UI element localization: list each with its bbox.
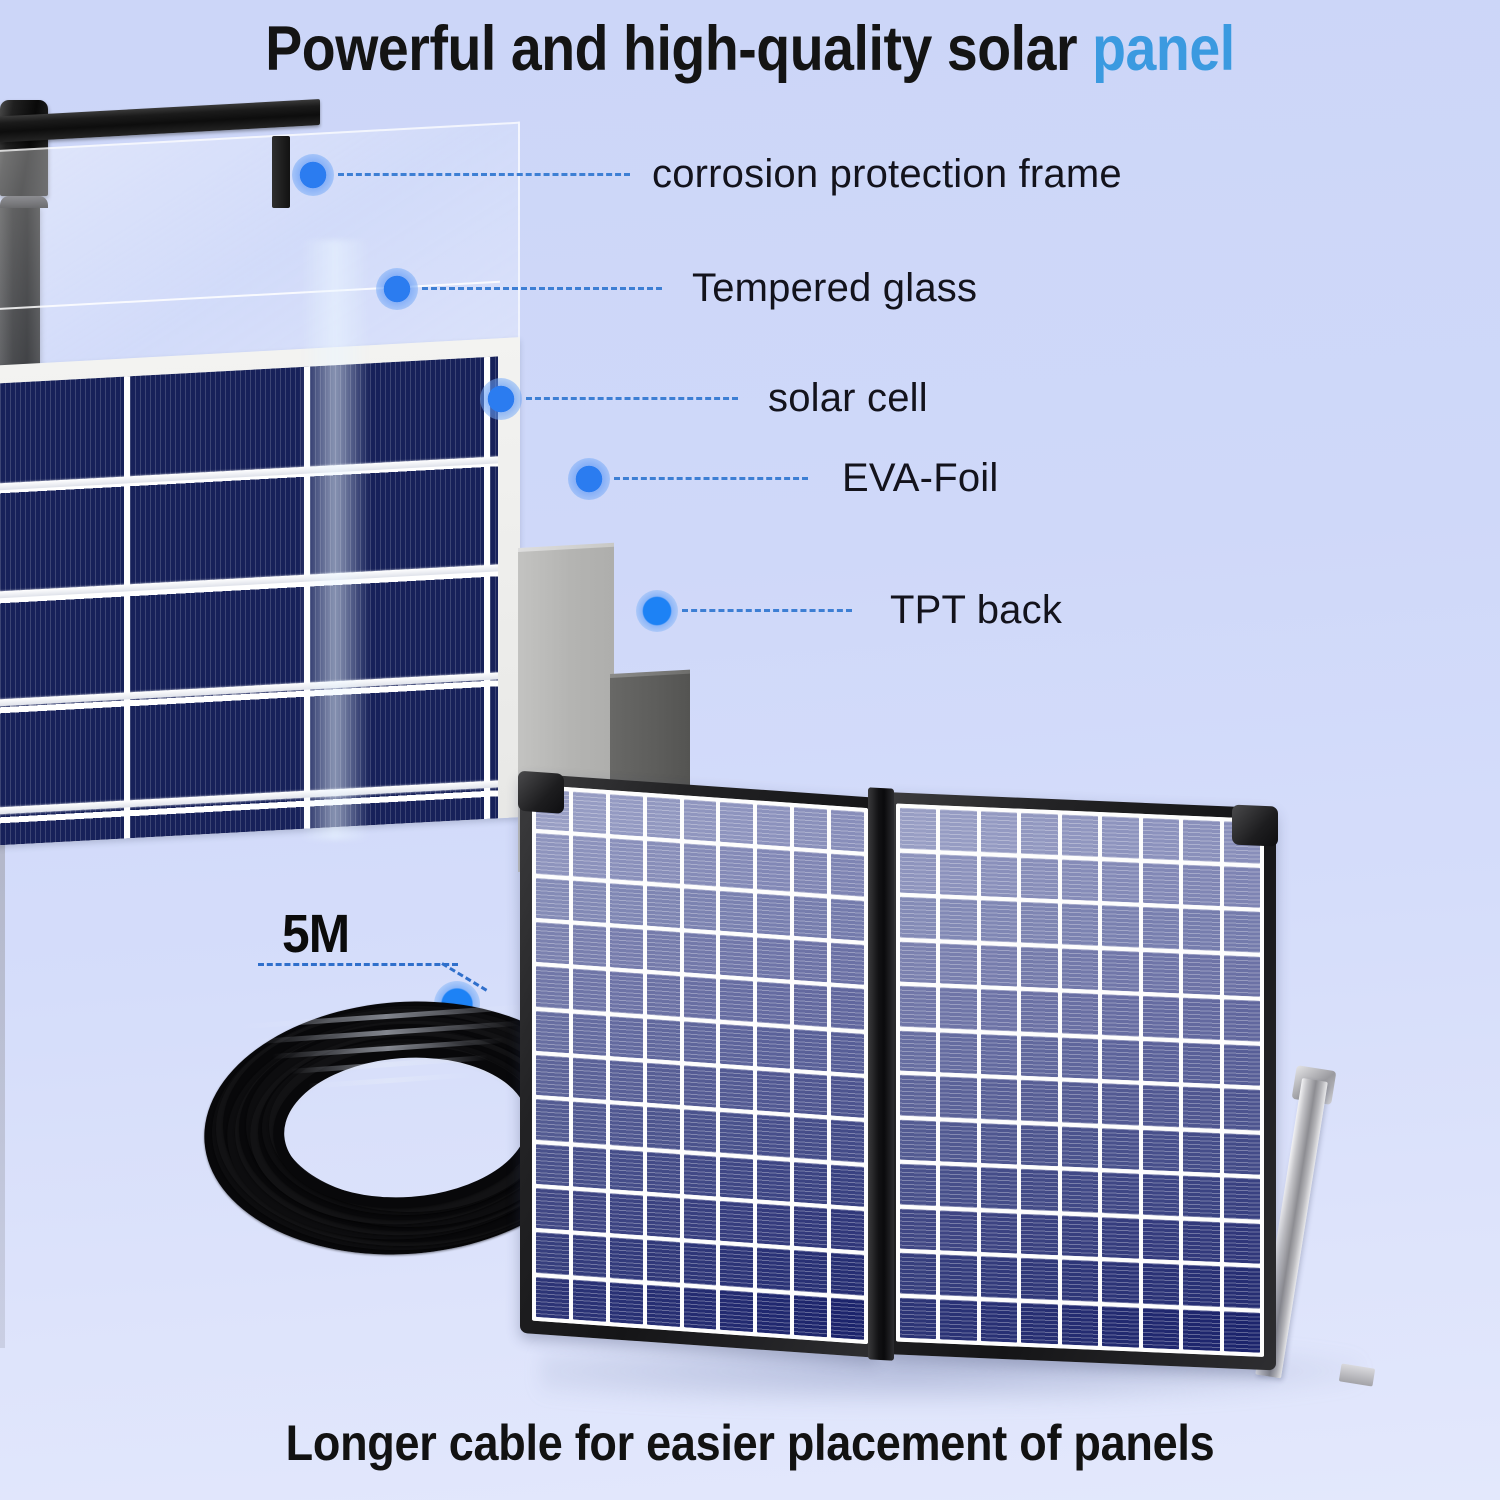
solar-cell <box>1102 816 1138 858</box>
callout-dot-icon <box>292 154 334 196</box>
solar-cell <box>900 1164 936 1206</box>
solar-cell <box>684 932 717 975</box>
solar-cell <box>1224 1311 1260 1353</box>
solar-cell <box>1102 1172 1138 1214</box>
solar-cell <box>900 1075 936 1117</box>
solar-cell <box>940 1032 976 1074</box>
solar-cell <box>940 1254 976 1296</box>
solar-cell <box>757 937 790 980</box>
solar-cell <box>1224 1177 1260 1219</box>
solar-cell <box>573 1058 606 1101</box>
solar-cell <box>757 1115 790 1158</box>
solar-cell <box>981 900 1017 942</box>
solar-cell <box>610 794 643 837</box>
solar-cell <box>757 1070 790 1113</box>
solar-cell <box>1183 998 1219 1040</box>
solar-cell <box>573 1235 606 1278</box>
solar-cell <box>647 1151 680 1194</box>
solar-cell <box>981 1301 1017 1343</box>
solar-cell <box>647 1240 680 1283</box>
solar-cell <box>1102 994 1138 1036</box>
solar-cell <box>831 1076 864 1119</box>
solar-cell <box>1224 955 1260 997</box>
solar-cell <box>940 809 976 851</box>
solar-cell <box>940 943 976 985</box>
solar-cell <box>757 1159 790 1202</box>
solar-cell <box>536 1232 569 1275</box>
solar-cell <box>940 1210 976 1252</box>
solar-cell <box>940 898 976 940</box>
solar-cell <box>757 982 790 1025</box>
solar-cell <box>684 799 717 842</box>
solar-cell <box>794 1029 827 1072</box>
solar-cell <box>684 1021 717 1064</box>
solar-cell <box>831 1031 864 1074</box>
solar-cell <box>1143 951 1179 993</box>
solar-cell <box>900 808 936 850</box>
cable-length-label: 5M <box>282 903 349 965</box>
callout-label: TPT back <box>890 588 1062 633</box>
solar-cell <box>573 1146 606 1189</box>
solar-cell <box>1143 1218 1179 1260</box>
callout-dot-icon <box>636 590 678 632</box>
solar-cell <box>1102 1128 1138 1170</box>
solar-cell <box>794 940 827 983</box>
callout-label: EVA-Foil <box>842 456 998 501</box>
solar-cell <box>757 893 790 936</box>
solar-cell <box>900 897 936 939</box>
solar-cell <box>610 1282 643 1325</box>
solar-cell <box>794 807 827 850</box>
callout-tpt-back: TPT back <box>636 588 1062 633</box>
solar-cell <box>831 1253 864 1296</box>
solar-cell <box>536 1055 569 1098</box>
solar-cell <box>794 1073 827 1116</box>
solar-cell <box>1143 1307 1179 1349</box>
glass-reflection-highlight <box>300 240 370 840</box>
solar-cell <box>981 1212 1017 1254</box>
solar-cell <box>1224 910 1260 952</box>
solar-cell <box>1021 1080 1057 1122</box>
solar-cell <box>573 1102 606 1145</box>
solar-cell <box>900 1119 936 1161</box>
solar-cell <box>610 883 643 926</box>
solar-cell <box>647 1196 680 1239</box>
frame-corner-cap <box>1232 805 1278 847</box>
solar-cell <box>610 971 643 1014</box>
solar-cell <box>647 1063 680 1106</box>
solar-cell <box>794 1295 827 1338</box>
frame-corner-cap <box>518 771 564 814</box>
solar-cell <box>1183 909 1219 951</box>
solar-cell <box>573 969 606 1012</box>
solar-cell <box>1183 1309 1219 1351</box>
solar-cell <box>1102 1083 1138 1125</box>
solar-cell <box>831 898 864 941</box>
solar-cell <box>1102 905 1138 947</box>
solar-cell <box>720 1112 753 1155</box>
solar-cell <box>1021 857 1057 899</box>
solar-cell <box>1021 946 1057 988</box>
solar-cell <box>794 984 827 1027</box>
solar-cell <box>940 854 976 896</box>
page-title-accent: panel <box>1092 14 1235 84</box>
solar-cell <box>1183 1176 1219 1218</box>
solar-cell <box>610 1016 643 1059</box>
solar-cell <box>981 989 1017 1031</box>
page-title: Powerful and high-quality solar panel <box>90 6 1410 92</box>
solar-cell <box>1102 1261 1138 1303</box>
callout-leader-line <box>682 609 852 612</box>
solar-cell <box>831 1297 864 1340</box>
solar-cell <box>981 945 1017 987</box>
solar-cell <box>981 1256 1017 1298</box>
solar-cell <box>647 974 680 1017</box>
solar-cell <box>1062 1170 1098 1212</box>
solar-cell <box>1183 1042 1219 1084</box>
solar-cell <box>536 833 569 876</box>
solar-cell <box>940 987 976 1029</box>
solar-cell <box>647 1284 680 1327</box>
solar-cell <box>1062 1215 1098 1257</box>
solar-cell <box>1021 813 1057 855</box>
solar-cell <box>536 1099 569 1142</box>
solar-cell <box>684 1287 717 1330</box>
solar-cell <box>610 1104 643 1147</box>
solar-cell <box>1102 1217 1138 1259</box>
solar-cell <box>610 838 643 881</box>
callout-leader-line <box>338 173 630 176</box>
solar-cell <box>573 1013 606 1056</box>
solar-cell <box>684 1154 717 1197</box>
solar-cell <box>536 878 569 921</box>
solar-cell <box>1224 1133 1260 1175</box>
callout-corrosion-protection-frame: corrosion protection frame <box>292 152 1122 197</box>
solar-cell <box>610 1149 643 1192</box>
solar-cell <box>831 810 864 853</box>
solar-cell <box>1183 953 1219 995</box>
solar-cell <box>573 880 606 923</box>
solar-cell <box>647 930 680 973</box>
solar-cell <box>610 1193 643 1236</box>
solar-cell <box>720 890 753 933</box>
solar-cell <box>573 792 606 835</box>
solar-cell <box>1062 1126 1098 1168</box>
callout-dot-icon <box>568 458 610 500</box>
solar-cell <box>647 885 680 928</box>
solar-cell <box>900 1030 936 1072</box>
solar-cell <box>1062 1081 1098 1123</box>
solar-cell <box>1183 1265 1219 1307</box>
solar-cell <box>900 1297 936 1339</box>
solar-cell-array <box>0 356 498 848</box>
solar-cell <box>1183 1220 1219 1262</box>
callout-dot-icon <box>480 378 522 420</box>
callout-leader-line <box>526 397 738 400</box>
solar-cell <box>794 896 827 939</box>
solar-cell <box>1021 991 1057 1033</box>
solar-cell <box>1224 999 1260 1041</box>
solar-cell <box>1143 1129 1179 1171</box>
solar-cell <box>1021 1035 1057 1077</box>
solar-cell <box>981 1078 1017 1120</box>
solar-cell <box>720 1068 753 1111</box>
solar-cell <box>1224 1088 1260 1130</box>
solar-cell <box>757 1292 790 1335</box>
solar-cell <box>720 1245 753 1288</box>
solar-cell <box>1062 992 1098 1034</box>
solar-cell <box>1143 1174 1179 1216</box>
solar-cell <box>1062 903 1098 945</box>
callout-solar-cell: solar cell <box>480 376 928 421</box>
solar-cell <box>940 1121 976 1163</box>
solar-cell <box>1224 1044 1260 1086</box>
solar-cell <box>940 1299 976 1341</box>
solar-cell <box>981 1034 1017 1076</box>
solar-cell <box>794 1162 827 1205</box>
solar-cell <box>536 966 569 1009</box>
solar-cell <box>831 1164 864 1207</box>
solar-cell <box>536 1144 569 1187</box>
solar-cell <box>684 1065 717 1108</box>
solar-cell <box>720 979 753 1022</box>
solar-cell <box>940 1076 976 1118</box>
solar-cell <box>1102 861 1138 903</box>
solar-cell <box>757 804 790 847</box>
solar-cell <box>831 987 864 1030</box>
solar-cell <box>536 1188 569 1231</box>
solar-cell <box>1143 862 1179 904</box>
infographic-canvas: Powerful and high-quality solar panel co… <box>0 0 1500 1500</box>
solar-cell <box>757 1203 790 1246</box>
solar-cell <box>794 1206 827 1249</box>
solar-cell <box>684 1198 717 1241</box>
solar-cell <box>1143 907 1179 949</box>
solar-cell <box>610 1237 643 1280</box>
solar-cell <box>757 1026 790 1069</box>
solar-cell <box>831 854 864 897</box>
solar-cell <box>536 922 569 965</box>
solar-cell <box>757 849 790 892</box>
solar-cell <box>1183 1087 1219 1129</box>
solar-cell <box>1224 866 1260 908</box>
solar-cell <box>1062 1259 1098 1301</box>
solar-cell <box>1183 864 1219 906</box>
solar-cell <box>831 1120 864 1163</box>
solar-cell <box>720 846 753 889</box>
solar-cell <box>720 1201 753 1244</box>
solar-cell <box>1062 1304 1098 1346</box>
solar-cell <box>831 1209 864 1252</box>
solar-cell <box>720 935 753 978</box>
solar-cell <box>720 1289 753 1332</box>
callout-dot-icon <box>376 268 418 310</box>
solar-cell <box>1021 902 1057 944</box>
foldable-solar-panel <box>510 780 1370 1420</box>
solar-cell <box>1102 1039 1138 1081</box>
solar-cell <box>757 1248 790 1291</box>
solar-cell <box>981 1167 1017 1209</box>
solar-cell <box>1183 1131 1219 1173</box>
solar-cell <box>1021 1213 1057 1255</box>
callout-leader-line <box>614 477 808 480</box>
callout-leader-line <box>422 287 662 290</box>
solar-cell <box>1143 996 1179 1038</box>
solar-cell <box>831 943 864 986</box>
callout-tempered-glass: Tempered glass <box>376 266 977 311</box>
solar-cell <box>1102 950 1138 992</box>
cable-callout-leader-horizontal <box>258 963 458 966</box>
solar-cell <box>981 1123 1017 1165</box>
callout-label: corrosion protection frame <box>652 152 1122 197</box>
solar-cell <box>794 1117 827 1160</box>
solar-cell <box>1143 1040 1179 1082</box>
solar-cell <box>900 852 936 894</box>
solar-cell <box>794 851 827 894</box>
solar-cell <box>940 1165 976 1207</box>
solar-cell <box>720 1023 753 1066</box>
solar-cell <box>610 1060 643 1103</box>
solar-cell <box>573 1279 606 1322</box>
solar-cell <box>900 986 936 1028</box>
solar-cell <box>1183 820 1219 862</box>
solar-cell <box>1021 1302 1057 1344</box>
bottom-caption: Longer cable for easier placement of pan… <box>75 1414 1425 1472</box>
panel-glass-face-right <box>896 804 1264 1357</box>
solar-cell <box>1062 814 1098 856</box>
solar-cell <box>720 1156 753 1199</box>
solar-cell <box>684 888 717 931</box>
solar-cell <box>1021 1258 1057 1300</box>
solar-cell <box>1062 948 1098 990</box>
callout-label: solar cell <box>768 376 928 421</box>
solar-panel-layer-exploded-view <box>0 100 740 800</box>
solar-cell <box>684 1243 717 1286</box>
solar-cell <box>573 836 606 879</box>
solar-cell <box>720 802 753 845</box>
solar-cell <box>1021 1169 1057 1211</box>
solar-cell <box>647 797 680 840</box>
solar-cell <box>1062 859 1098 901</box>
solar-cell <box>900 1253 936 1295</box>
solar-cell <box>573 1191 606 1234</box>
panel-wing-right <box>884 792 1276 1370</box>
solar-cell <box>1143 1085 1179 1127</box>
solar-cell <box>536 1277 569 1320</box>
page-title-main: Powerful and high-quality solar <box>265 14 1092 84</box>
solar-cell <box>1224 1266 1260 1308</box>
solar-cell <box>900 1208 936 1250</box>
solar-cell <box>684 1110 717 1153</box>
callout-label: Tempered glass <box>692 266 977 311</box>
solar-cell <box>1021 1124 1057 1166</box>
solar-cell <box>1102 1306 1138 1348</box>
solar-cell <box>1062 1037 1098 1079</box>
panel-wing-left <box>520 773 880 1358</box>
solar-cell <box>981 811 1017 853</box>
frame-inner-lip <box>272 136 290 208</box>
frame-rail-highlight <box>0 778 5 1348</box>
solar-cell <box>900 941 936 983</box>
callout-eva-foil: EVA-Foil <box>568 456 998 501</box>
solar-cell <box>647 841 680 884</box>
solar-cell <box>647 1018 680 1061</box>
solar-cell <box>981 856 1017 898</box>
panel-fold-hinge <box>868 787 894 1360</box>
solar-cell <box>794 1250 827 1293</box>
solar-cell <box>536 1011 569 1054</box>
solar-cell <box>1143 1263 1179 1305</box>
solar-cell <box>1143 818 1179 860</box>
solar-cell <box>573 925 606 968</box>
solar-cell <box>647 1107 680 1150</box>
solar-cell <box>684 977 717 1020</box>
solar-cell <box>1224 1222 1260 1264</box>
panel-glass-face-left <box>532 785 868 1344</box>
solar-cell <box>684 844 717 887</box>
solar-cell <box>610 927 643 970</box>
